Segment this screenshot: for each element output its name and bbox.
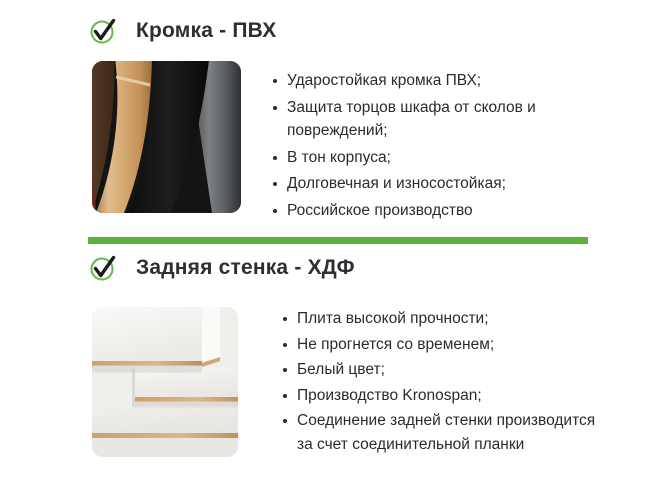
list-item: Долговечная и износостойкая; (272, 172, 602, 196)
list-item: Защита торцов шкафа от сколов и поврежде… (272, 96, 602, 143)
list-item: Ударостойкая кромка ПВХ; (272, 69, 602, 93)
section-heading-edge: Кромка - ПВХ (88, 16, 276, 46)
section-divider (88, 237, 588, 244)
section-heading-back: Задняя стенка - ХДФ (88, 253, 355, 283)
hdf-back-panel-photo (92, 307, 238, 457)
feature-list-back: Плита высокой прочности; Не прогнется со… (282, 307, 612, 458)
list-item: Производство Kronospan; (282, 384, 612, 408)
list-item: Не прогнется со временем; (282, 333, 612, 357)
green-check-circle-icon (88, 253, 118, 283)
list-item: Белый цвет; (282, 358, 612, 382)
list-item: Плита высокой прочности; (282, 307, 612, 331)
list-item: В тон корпуса; (272, 146, 602, 170)
product-features-panel: Кромка - ПВХ (0, 0, 652, 500)
green-check-circle-icon (88, 16, 118, 46)
list-item: Соединение задней стенки производится за… (282, 409, 612, 456)
feature-section-edge: Кромка - ПВХ (0, 0, 652, 232)
pvc-edge-banding-photo (92, 61, 241, 213)
page-title: Кромка - ПВХ (136, 19, 276, 43)
feature-section-back: Задняя стенка - ХДФ (0, 248, 652, 500)
list-item: Российское производство (272, 199, 602, 223)
feature-list-edge: Ударостойкая кромка ПВХ; Защита торцов ш… (272, 69, 602, 225)
page-title: Задняя стенка - ХДФ (136, 256, 355, 280)
